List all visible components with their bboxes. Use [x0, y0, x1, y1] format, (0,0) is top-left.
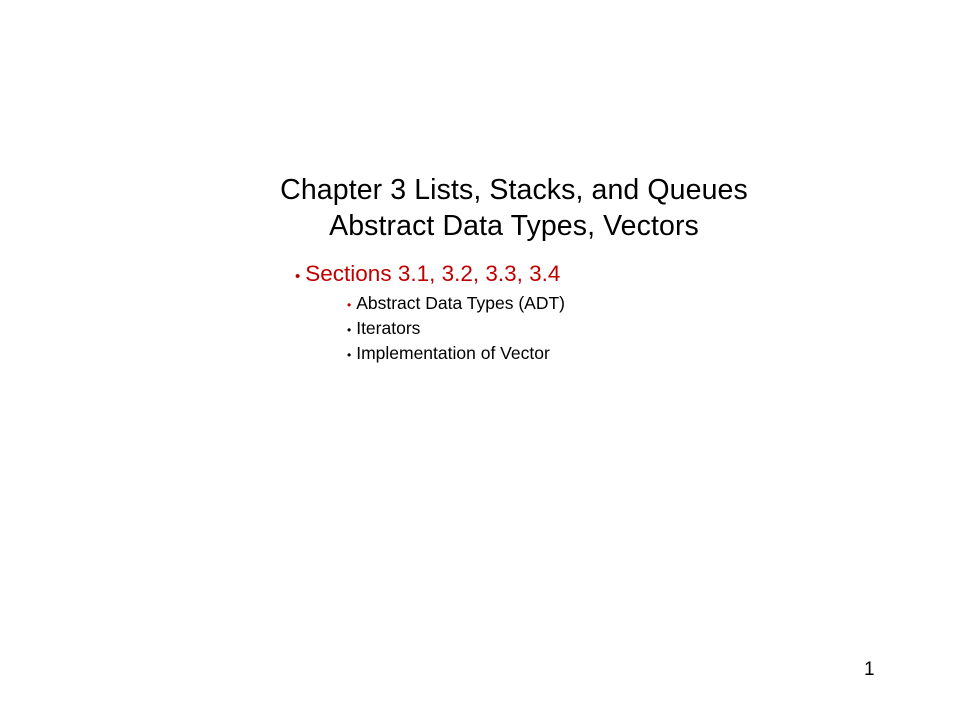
sub-bullet-implementation-of-vector: • Implementation of Vector: [347, 341, 565, 366]
bullet-dot-icon: •: [295, 269, 300, 284]
slide-canvas: Chapter 3 Lists, Stacks, and Queues Abst…: [0, 0, 960, 720]
sub-bullet-implementation-of-vector-label: Implementation of Vector: [356, 341, 550, 366]
bullet-sections: • Sections 3.1, 3.2, 3.3, 3.4: [295, 259, 565, 288]
sub-bullet-adt: • Abstract Data Types (ADT): [347, 291, 565, 316]
page-number: 1: [864, 658, 875, 682]
sub-bullet-iterators: • Iterators: [347, 316, 565, 341]
title-line-1: Chapter 3 Lists, Stacks, and Queues: [0, 172, 960, 208]
sub-bullet-iterators-label: Iterators: [356, 316, 420, 341]
slide-title: Chapter 3 Lists, Stacks, and Queues Abst…: [0, 172, 960, 244]
title-line-2: Abstract Data Types, Vectors: [0, 208, 960, 244]
bullet-dot-icon: •: [347, 299, 351, 311]
bullet-sections-label: Sections 3.1, 3.2, 3.3, 3.4: [305, 259, 560, 288]
bullet-dot-icon: •: [347, 349, 351, 361]
slide-body: • Sections 3.1, 3.2, 3.3, 3.4 • Abstract…: [295, 259, 565, 366]
sub-bullet-adt-label: Abstract Data Types (ADT): [356, 291, 565, 316]
bullet-dot-icon: •: [347, 324, 351, 336]
sub-bullet-list: • Abstract Data Types (ADT) • Iterators …: [347, 291, 565, 366]
